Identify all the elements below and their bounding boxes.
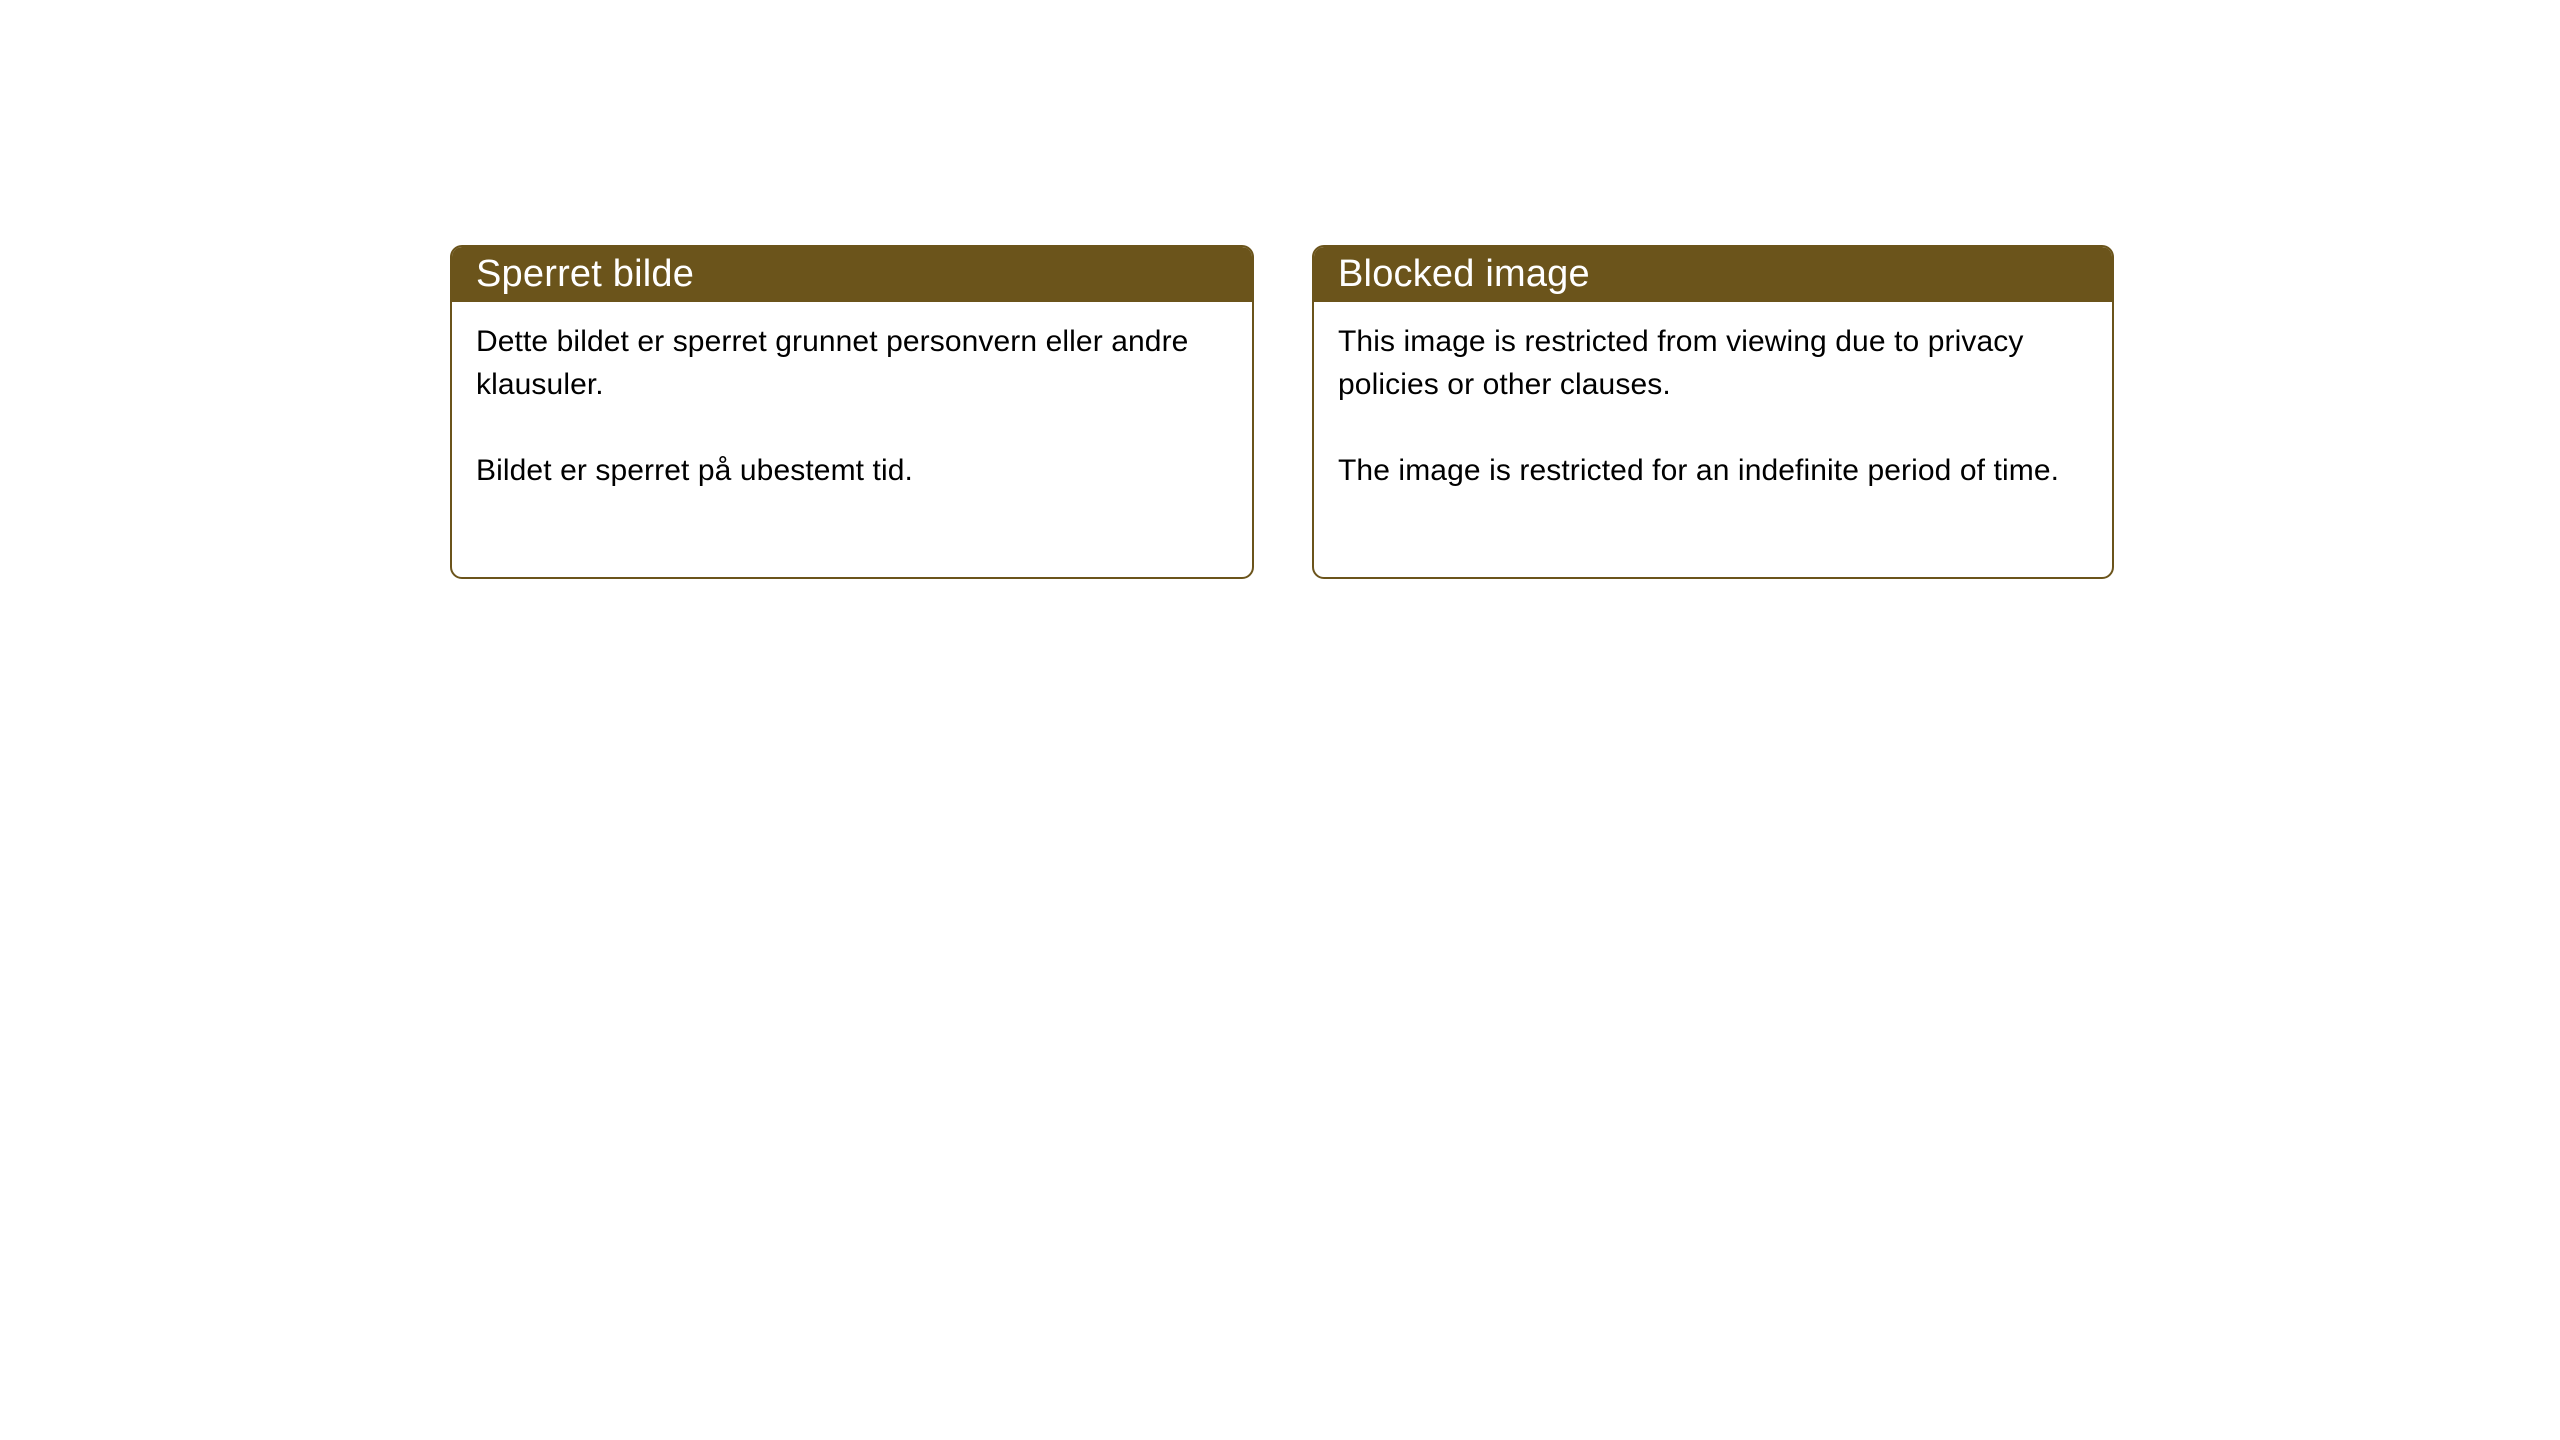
- notice-header-no: Sperret bilde: [452, 247, 1252, 302]
- notice-paragraph-duration-no: Bildet er sperret på ubestemt tid.: [476, 449, 1230, 492]
- notice-paragraph-reason-no: Dette bildet er sperret grunnet personve…: [476, 320, 1230, 406]
- paragraph-spacer-no: [476, 406, 1230, 449]
- notice-paragraph-reason-en: This image is restricted from viewing du…: [1338, 320, 2090, 406]
- blocked-image-notice-no: Sperret bilde Dette bildet er sperret gr…: [450, 245, 1254, 579]
- page-stage: Sperret bilde Dette bildet er sperret gr…: [0, 0, 2560, 1440]
- paragraph-spacer-en: [1338, 406, 2090, 449]
- notice-title-en: Blocked image: [1338, 247, 1590, 302]
- blocked-image-notice-en: Blocked image This image is restricted f…: [1312, 245, 2114, 579]
- notice-header-en: Blocked image: [1314, 247, 2112, 302]
- notice-title-no: Sperret bilde: [476, 247, 694, 302]
- notice-body-no: Dette bildet er sperret grunnet personve…: [452, 302, 1252, 492]
- notice-body-en: This image is restricted from viewing du…: [1314, 302, 2112, 492]
- notice-paragraph-duration-en: The image is restricted for an indefinit…: [1338, 449, 2090, 492]
